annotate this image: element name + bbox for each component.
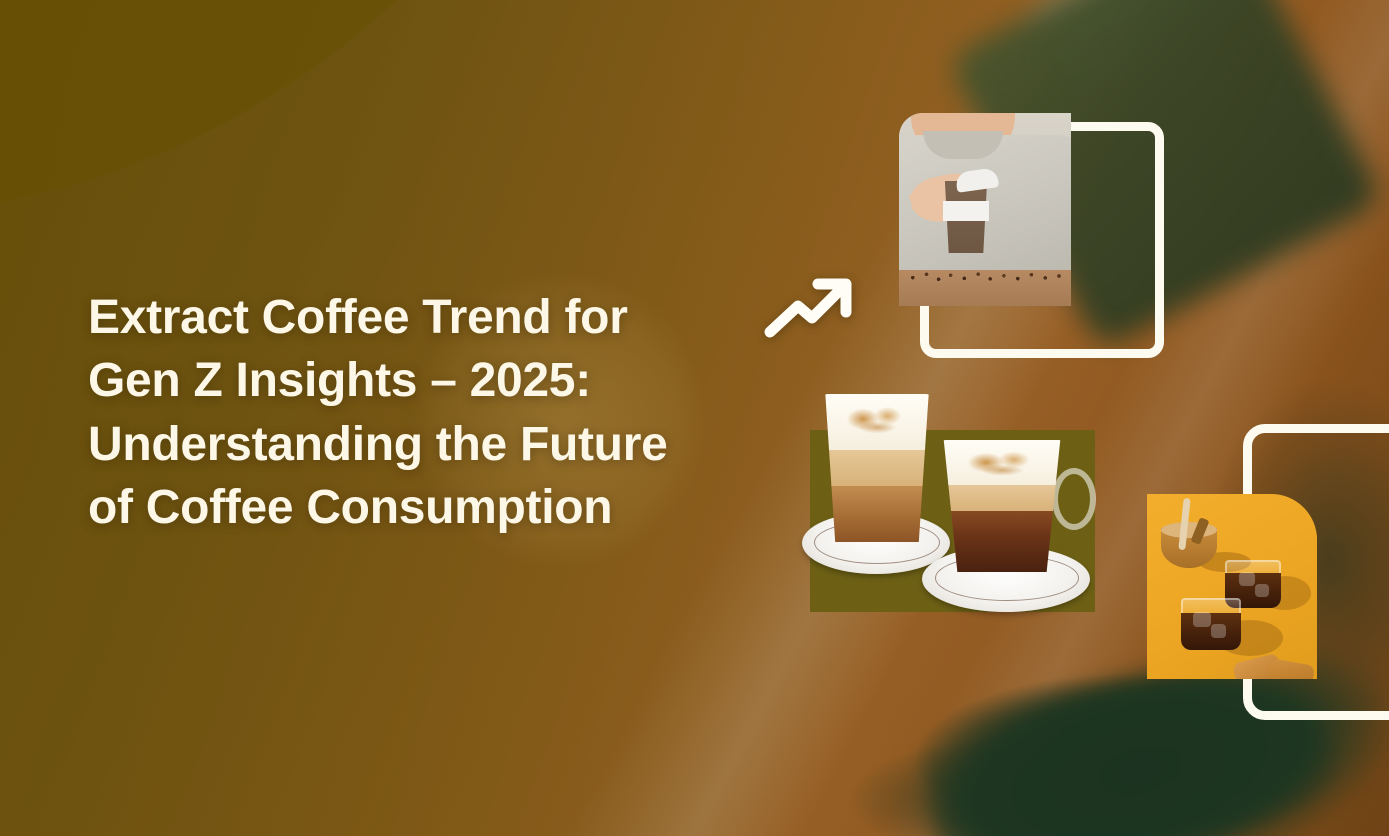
photo-glass-cup-right — [940, 440, 1064, 572]
photo-cappuccino-cups — [800, 388, 1100, 618]
photo-cup-handle — [1052, 468, 1096, 530]
photo-iced-coffee — [1147, 494, 1317, 679]
photo-crema-layer — [940, 482, 1064, 511]
photo-latte-art — [952, 445, 1051, 479]
photo-ice-cube — [1255, 584, 1269, 597]
photo-coffee-layer — [940, 509, 1064, 572]
photo-coffee-layer — [822, 483, 932, 542]
photo-person-holding-cup — [899, 113, 1071, 306]
photo-cup-sleeve — [943, 201, 989, 221]
photo-iced-glass — [1181, 598, 1241, 650]
trending-up-icon — [760, 268, 858, 346]
photo-crema-layer — [822, 447, 932, 485]
page-title: Extract Coffee Trend for Gen Z Insights … — [88, 286, 688, 539]
photo-latte-art — [833, 400, 921, 438]
photo-ice-cube — [1239, 572, 1255, 586]
photo-glass-cup-left — [822, 394, 932, 542]
hero-banner: Extract Coffee Trend for Gen Z Insights … — [0, 0, 1389, 836]
photo-ice-cube — [1193, 612, 1211, 627]
photo-coffee-beans — [899, 268, 1071, 284]
photo-ice-cube — [1211, 624, 1226, 638]
photo-bowl-contents — [1161, 522, 1217, 538]
